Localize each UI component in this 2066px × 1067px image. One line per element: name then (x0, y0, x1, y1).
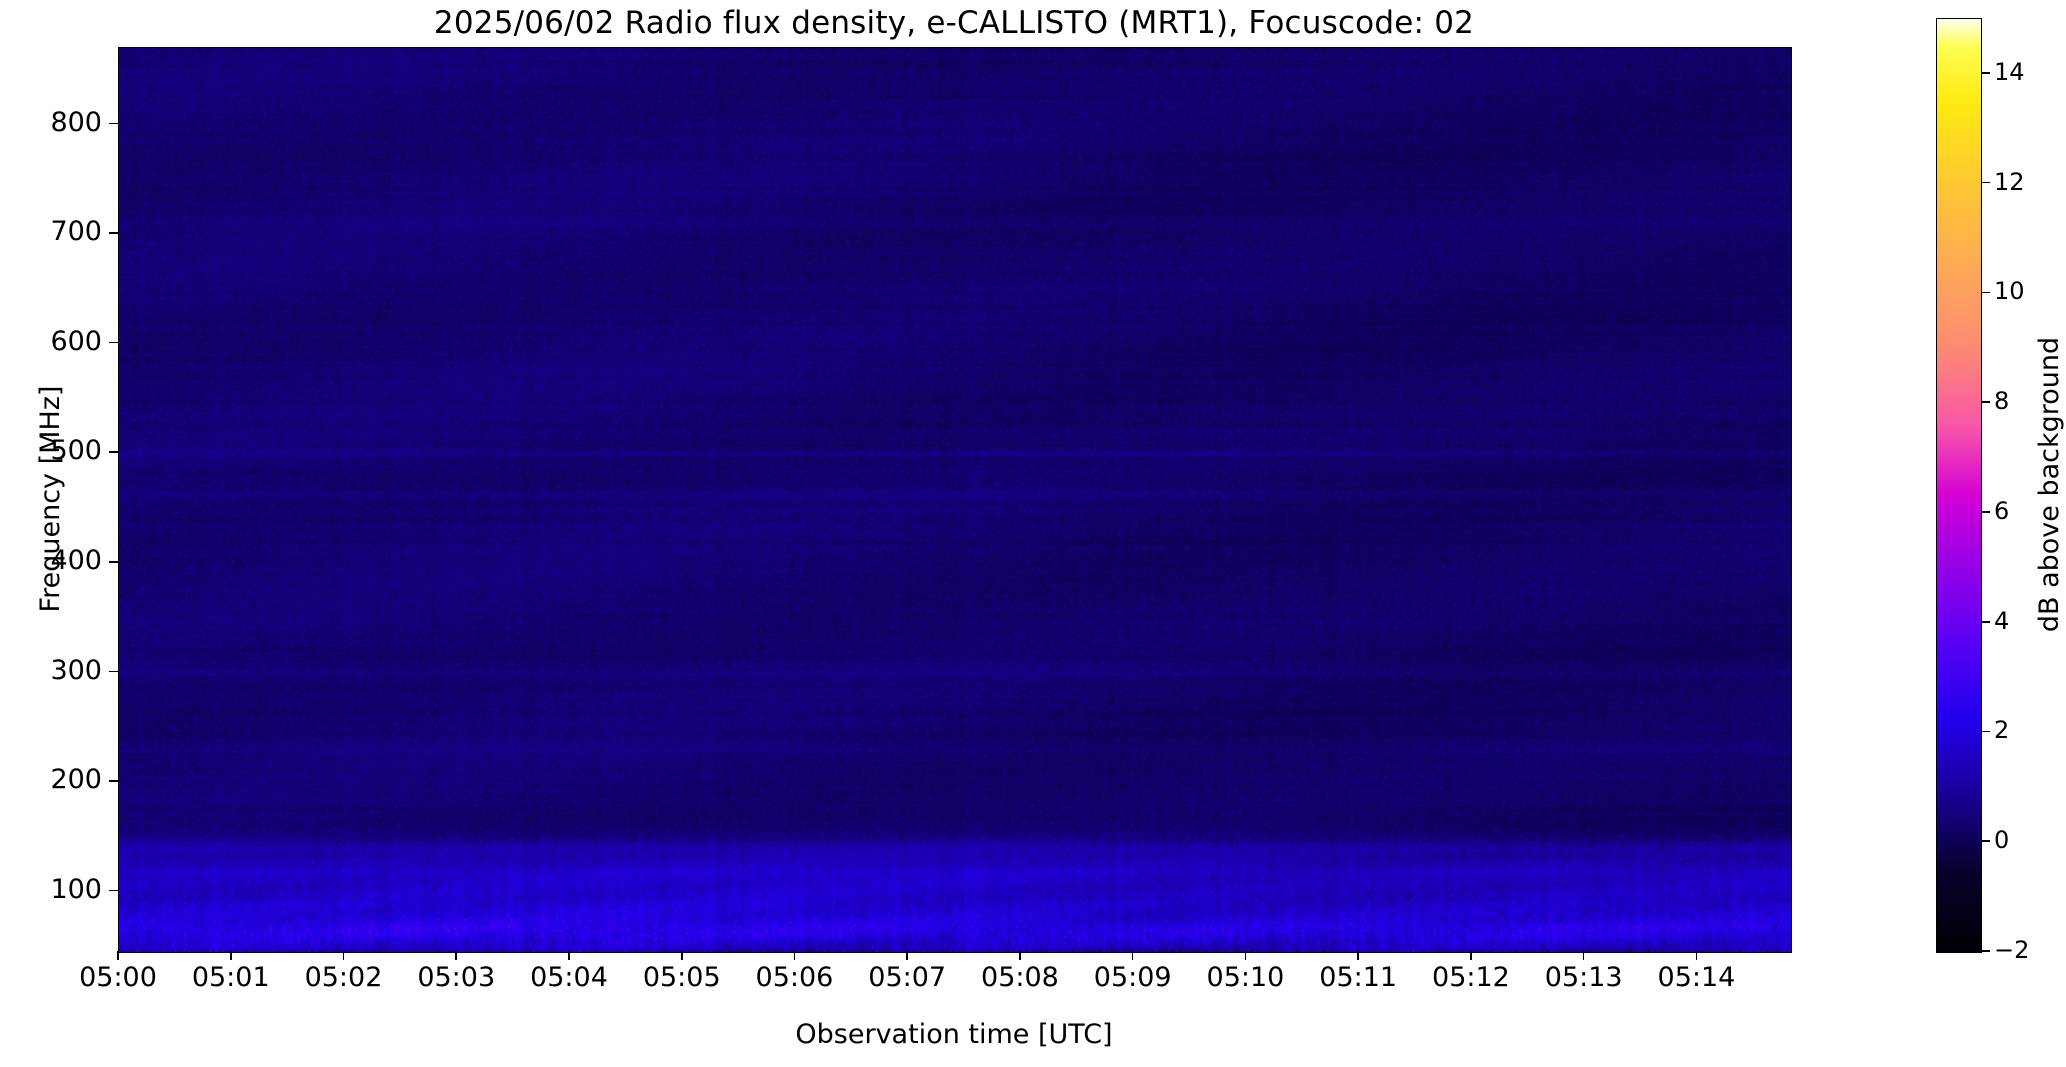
colorbar-label: dB above background (2034, 18, 2066, 951)
x-tick-label: 05:10 (1207, 963, 1285, 993)
x-tick-mark (1357, 951, 1359, 960)
y-tick-label: 500 (50, 437, 102, 464)
colorbar-tick-label: 0 (1994, 827, 2009, 854)
y-tick-mark (109, 671, 118, 673)
colorbar-tick-mark (1981, 72, 1990, 74)
x-tick-label: 05:00 (79, 963, 157, 993)
x-tick-label: 05:11 (1319, 963, 1397, 993)
x-tick-label: 05:04 (530, 963, 608, 993)
y-tick-label: 800 (50, 109, 102, 136)
x-tick-label: 05:07 (868, 963, 946, 993)
x-tick-mark (1583, 951, 1585, 960)
colorbar-tick-label: 10 (1994, 278, 2025, 305)
colorbar-gradient (1937, 19, 1981, 952)
x-tick-label: 05:05 (643, 963, 721, 993)
x-tick-label: 05:06 (756, 963, 834, 993)
x-tick-mark (1696, 951, 1698, 960)
y-tick-label: 300 (50, 657, 102, 684)
colorbar-tick-mark (1981, 840, 1990, 842)
y-tick-mark (109, 232, 118, 234)
colorbar-tick-label: 6 (1994, 498, 2009, 525)
x-tick-mark (794, 951, 796, 960)
colorbar-tick-label: 12 (1994, 169, 2025, 196)
colorbar-tick-label: −2 (1994, 937, 2029, 964)
y-tick-label: 700 (50, 218, 102, 245)
x-tick-label: 05:02 (305, 963, 383, 993)
colorbar-tick-label: 8 (1994, 388, 2009, 415)
x-tick-mark (230, 951, 232, 960)
x-tick-mark (343, 951, 345, 960)
page-title: 2025/06/02 Radio flux density, e-CALLIST… (118, 4, 1790, 42)
x-tick-label: 05:03 (417, 963, 495, 993)
x-tick-label: 05:01 (192, 963, 270, 993)
x-tick-mark (568, 951, 570, 960)
x-tick-mark (455, 951, 457, 960)
x-axis-label: Observation time [UTC] (118, 1018, 1790, 1052)
x-tick-mark (1019, 951, 1021, 960)
x-tick-mark (906, 951, 908, 960)
colorbar-tick-mark (1981, 621, 1990, 623)
x-tick-label: 05:12 (1432, 963, 1510, 993)
x-tick-label: 05:08 (981, 963, 1059, 993)
x-tick-mark (1470, 951, 1472, 960)
x-tick-label: 05:13 (1545, 963, 1623, 993)
x-tick-label: 05:14 (1658, 963, 1736, 993)
x-tick-mark (681, 951, 683, 960)
x-tick-mark (117, 951, 119, 960)
colorbar-tick-label: 2 (1994, 717, 2009, 744)
y-tick-label: 400 (50, 547, 102, 574)
spectrogram-image (119, 48, 1791, 952)
colorbar-tick-label: 4 (1994, 608, 2009, 635)
y-tick-mark (109, 890, 118, 892)
colorbar-tick-mark (1981, 950, 1990, 952)
y-tick-mark (109, 780, 118, 782)
spectrogram-plot-area[interactable] (118, 47, 1792, 953)
y-axis-label: Frequency [MHz] (34, 47, 68, 951)
y-tick-label: 100 (50, 876, 102, 903)
y-tick-mark (109, 123, 118, 125)
x-tick-mark (1245, 951, 1247, 960)
y-tick-mark (109, 342, 118, 344)
x-tick-label: 05:09 (1094, 963, 1172, 993)
x-tick-mark (1132, 951, 1134, 960)
colorbar-tick-mark (1981, 401, 1990, 403)
y-tick-label: 200 (50, 766, 102, 793)
colorbar[interactable] (1936, 18, 1982, 953)
y-tick-mark (109, 561, 118, 563)
figure-canvas: 2025/06/02 Radio flux density, e-CALLIST… (0, 0, 2066, 1067)
colorbar-tick-mark (1981, 292, 1990, 294)
colorbar-tick-mark (1981, 511, 1990, 513)
colorbar-tick-label: 14 (1994, 59, 2025, 86)
y-tick-mark (109, 451, 118, 453)
colorbar-tick-mark (1981, 182, 1990, 184)
colorbar-tick-mark (1981, 731, 1990, 733)
y-tick-label: 600 (50, 328, 102, 355)
